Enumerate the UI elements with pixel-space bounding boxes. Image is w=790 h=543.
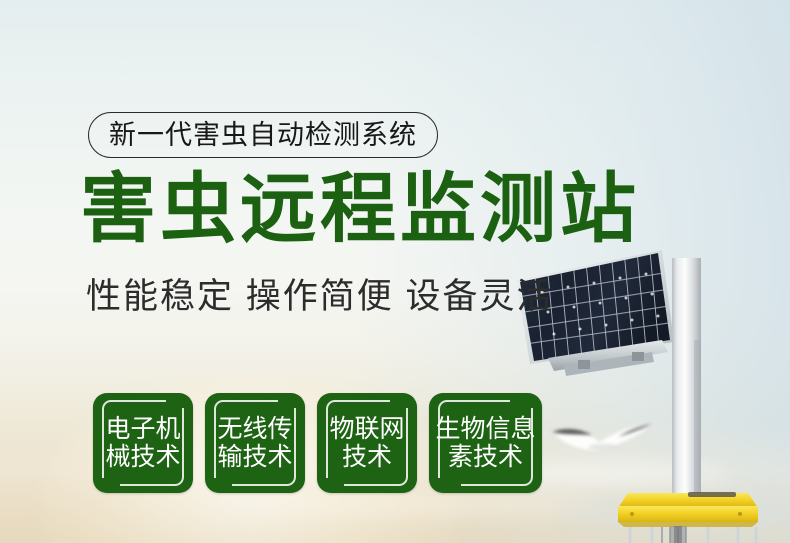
feature-tag-label: 物联网技术 [324, 415, 410, 471]
feature-tag-pheromone: 生物信息素技术 [429, 393, 542, 493]
feature-tag-iot: 物联网技术 [317, 393, 417, 493]
subtitle: 性能稳定 操作简便 设备灵活 [86, 278, 553, 317]
feature-tag-list: 电子机械技术 无线传输技术 物联网技术 生物信息素技术 [93, 393, 542, 493]
page-title: 害虫远程监测站 [80, 172, 640, 248]
banner-content: 新一代害虫自动检测系统 害虫远程监测站 性能稳定 操作简便 设备灵活 电子机械技… [0, 0, 790, 543]
feature-tag-wireless-transmission: 无线传输技术 [205, 393, 305, 493]
tagline-badge: 新一代害虫自动检测系统 [88, 112, 438, 158]
feature-tag-electromechanical: 电子机械技术 [93, 393, 193, 493]
feature-tag-label: 电子机械技术 [100, 415, 186, 471]
tagline-badge-label: 新一代害虫自动检测系统 [109, 122, 417, 149]
product-banner: 新一代害虫自动检测系统 害虫远程监测站 性能稳定 操作简便 设备灵活 电子机械技… [0, 0, 790, 543]
feature-tag-label: 无线传输技术 [212, 415, 298, 471]
feature-tag-label: 生物信息素技术 [432, 415, 540, 471]
